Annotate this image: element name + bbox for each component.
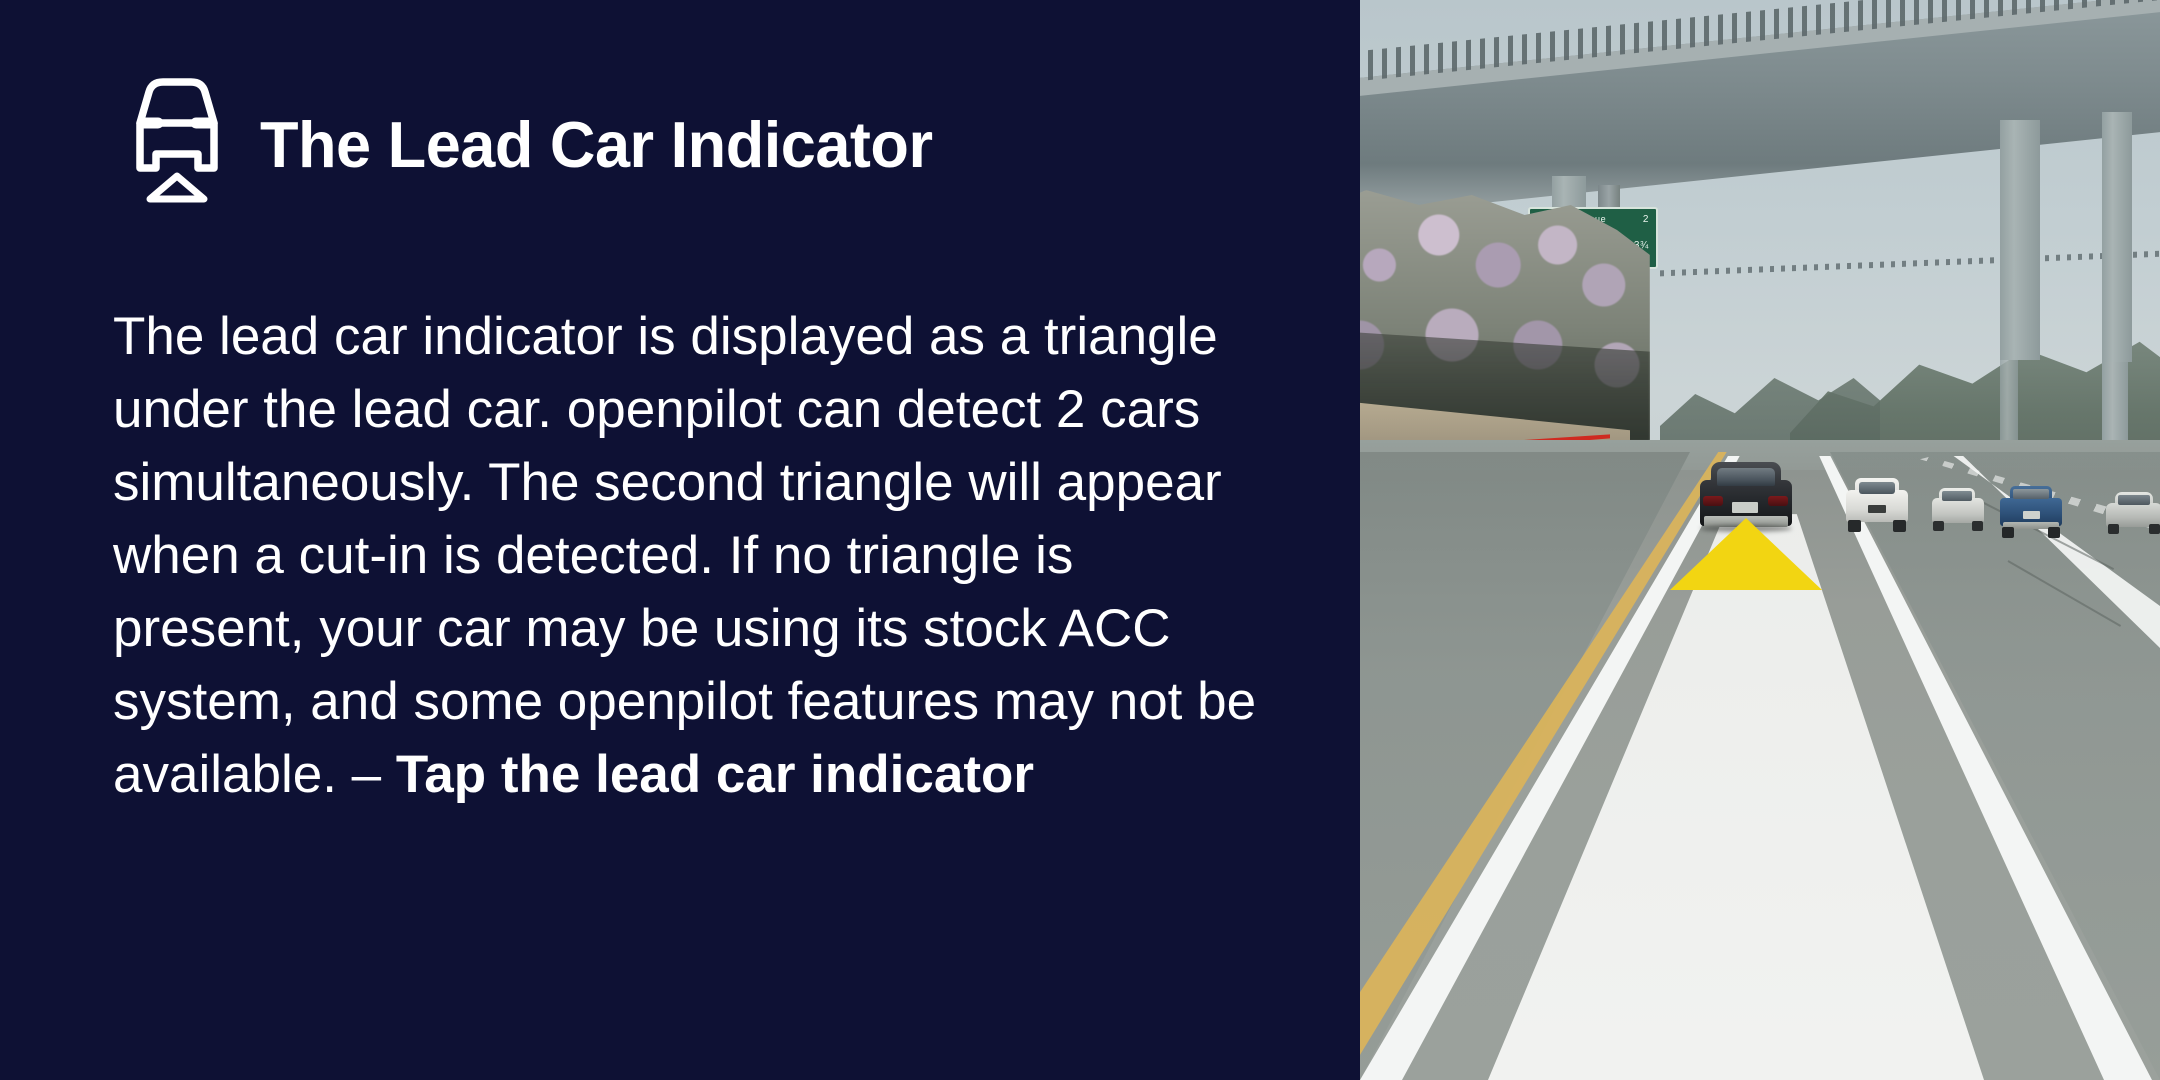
white-suv-wheel-right [1893, 520, 1906, 532]
lead-car-taillight-right [1768, 496, 1788, 506]
white-suv-wheel-left [1848, 520, 1861, 532]
silver-sedan-wheel-left [2108, 524, 2119, 534]
silver-sedan-wheel-right [2149, 524, 2160, 534]
lead-car-license-plate [1732, 502, 1758, 513]
white-suv-window [1859, 482, 1895, 494]
lead-car-taillight-left [1703, 496, 1723, 506]
body-text-main: The lead car indicator is displayed as a… [113, 307, 1256, 731]
blue-pickup-window [2013, 489, 2049, 499]
sign-distance-top: 2 [1639, 214, 1649, 226]
lead-car-indicator-slide: The Lead Car Indicator The lead car indi… [0, 0, 2160, 1080]
silver-car-wheel-left [1933, 521, 1944, 531]
silver-sedan-window [2118, 495, 2150, 505]
white-suv [1846, 478, 1908, 532]
silver-car-body [1932, 498, 1984, 523]
highway-dashcam-photo: Balboa Avenue Garnet Avenue 2 Clairemont… [1360, 0, 2160, 1080]
white-suv-plate [1868, 505, 1886, 513]
silver-car [1932, 488, 1984, 532]
panel-header: The Lead Car Indicator [118, 74, 953, 204]
blue-pickup [2000, 486, 2062, 538]
blue-pickup-wheel-right [2048, 527, 2060, 538]
lead-car-with-triangle-icon [118, 75, 236, 203]
page-title: The Lead Car Indicator [260, 112, 933, 177]
blue-pickup-plate [2023, 511, 2040, 519]
silver-car-wheel-right [1972, 521, 1983, 531]
body-text-callout: Tap the lead car indicator [396, 745, 1034, 804]
info-panel: The Lead Car Indicator The lead car indi… [0, 0, 1360, 1080]
overpass-pier-3 [2102, 112, 2132, 362]
silver-sedan [2106, 492, 2160, 536]
lead-car-rear-window [1717, 468, 1775, 486]
panel-body-text: The lead car indicator is displayed as a… [113, 300, 1273, 811]
blue-pickup-wheel-left [2002, 527, 2014, 538]
silver-car-window [1942, 491, 1972, 501]
overpass-pier-2 [2000, 120, 2040, 360]
body-text-tail: available. – [113, 745, 396, 804]
